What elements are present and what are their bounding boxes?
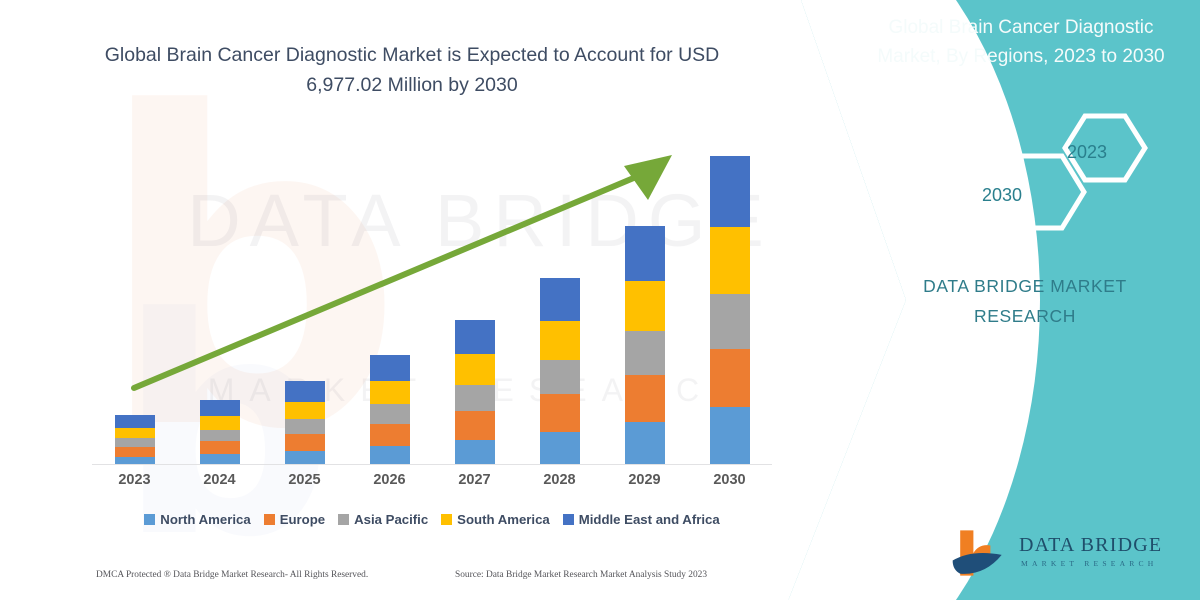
legend-label: North America xyxy=(160,512,250,527)
legend-label: Middle East and Africa xyxy=(579,512,720,527)
copyright-notice: DMCA Protected ® Data Bridge Market Rese… xyxy=(96,570,368,580)
bar-segment xyxy=(370,381,410,404)
x-axis-label: 2023 xyxy=(96,472,174,488)
chart-bars xyxy=(92,140,772,464)
bar-segment xyxy=(370,355,410,381)
bar-segment xyxy=(115,447,155,457)
legend-label: Asia Pacific xyxy=(354,512,428,527)
bar-segment xyxy=(540,360,580,394)
x-axis-labels: 20232024202520262027202820292030 xyxy=(92,472,772,488)
bar-segment xyxy=(455,440,495,464)
legend-label: Europe xyxy=(280,512,325,527)
stacked-bar xyxy=(285,381,325,464)
bar-segment xyxy=(200,454,240,464)
stacked-bar xyxy=(625,226,665,464)
legend-item[interactable]: South America xyxy=(441,512,550,527)
legend-swatch xyxy=(144,514,155,525)
bar-column-2030 xyxy=(691,140,769,464)
legend-swatch xyxy=(563,514,574,525)
bar-column-2028 xyxy=(521,140,599,464)
x-axis-label: 2026 xyxy=(351,472,429,488)
legend-item[interactable]: North America xyxy=(144,512,250,527)
bar-column-2026 xyxy=(351,140,429,464)
stacked-bar xyxy=(710,156,750,464)
bar-segment xyxy=(625,226,665,281)
chart-legend: North AmericaEuropeAsia PacificSouth Ame… xyxy=(92,512,772,527)
x-axis-label: 2027 xyxy=(436,472,514,488)
legend-item[interactable]: Asia Pacific xyxy=(338,512,428,527)
bar-segment xyxy=(115,438,155,447)
legend-label: South America xyxy=(457,512,550,527)
legend-item[interactable]: Europe xyxy=(264,512,325,527)
panel-title: Global Brain Cancer Diagnostic Market, B… xyxy=(856,14,1186,71)
bar-column-2023 xyxy=(96,140,174,464)
page-title: Global Brain Cancer Diagnostic Market is… xyxy=(92,40,732,100)
bar-segment xyxy=(540,321,580,360)
logo-subtext: MARKET RESEARCH xyxy=(1021,559,1158,568)
bar-segment xyxy=(115,415,155,428)
x-axis-label: 2024 xyxy=(181,472,259,488)
bar-segment xyxy=(455,354,495,385)
bar-segment xyxy=(285,419,325,434)
bar-segment xyxy=(370,446,410,464)
legend-swatch xyxy=(264,514,275,525)
bar-column-2024 xyxy=(181,140,259,464)
stacked-bar-chart xyxy=(92,140,772,465)
bar-segment xyxy=(710,294,750,349)
bar-segment xyxy=(285,381,325,401)
bar-segment xyxy=(370,404,410,423)
legend-swatch xyxy=(441,514,452,525)
hexagon-2023-label: 2023 xyxy=(1067,142,1107,163)
bar-segment xyxy=(455,411,495,440)
x-axis-label: 2025 xyxy=(266,472,344,488)
bar-segment xyxy=(710,227,750,293)
bar-segment xyxy=(625,375,665,422)
stacked-bar xyxy=(200,400,240,464)
bar-column-2027 xyxy=(436,140,514,464)
bar-segment xyxy=(200,430,240,441)
x-axis-label: 2028 xyxy=(521,472,599,488)
x-axis-label: 2030 xyxy=(691,472,769,488)
stacked-bar xyxy=(370,355,410,464)
bar-segment xyxy=(200,441,240,454)
chart-plot-area xyxy=(92,140,772,465)
bar-segment xyxy=(710,156,750,227)
bar-segment xyxy=(285,451,325,464)
panel-brand-text: DATA BRIDGE MARKET RESEARCH xyxy=(870,272,1180,332)
bar-segment xyxy=(200,400,240,416)
bar-segment xyxy=(285,434,325,451)
logo-mark-icon xyxy=(947,528,1013,578)
x-axis-label: 2029 xyxy=(606,472,684,488)
bar-segment xyxy=(115,428,155,439)
hexagon-2030-label: 2030 xyxy=(982,185,1022,206)
bar-segment xyxy=(200,416,240,430)
bar-segment xyxy=(455,385,495,411)
bar-segment xyxy=(540,432,580,464)
bar-segment xyxy=(625,281,665,331)
bar-segment xyxy=(370,424,410,447)
x-axis-line xyxy=(92,464,772,465)
bar-segment xyxy=(540,278,580,322)
stacked-bar xyxy=(540,278,580,464)
bar-segment xyxy=(540,394,580,431)
data-bridge-logo: DATA BRIDGE MARKET RESEARCH xyxy=(945,528,1175,584)
year-hexagons xyxy=(980,112,1170,232)
stacked-bar xyxy=(455,320,495,464)
logo-name: DATA BRIDGE xyxy=(1019,534,1162,557)
bar-segment xyxy=(710,349,750,407)
bar-column-2029 xyxy=(606,140,684,464)
infographic-root: b b DATA BRIDGE MARKET RESEARCH Global B… xyxy=(0,0,1200,600)
bar-segment xyxy=(625,331,665,375)
bar-segment xyxy=(455,320,495,354)
legend-item[interactable]: Middle East and Africa xyxy=(563,512,720,527)
stacked-bar xyxy=(115,415,155,464)
bar-segment xyxy=(710,407,750,464)
legend-swatch xyxy=(338,514,349,525)
bar-column-2025 xyxy=(266,140,344,464)
bar-segment xyxy=(625,422,665,464)
source-notice: Source: Data Bridge Market Research Mark… xyxy=(455,570,707,580)
bar-segment xyxy=(285,402,325,420)
bar-segment xyxy=(115,457,155,464)
